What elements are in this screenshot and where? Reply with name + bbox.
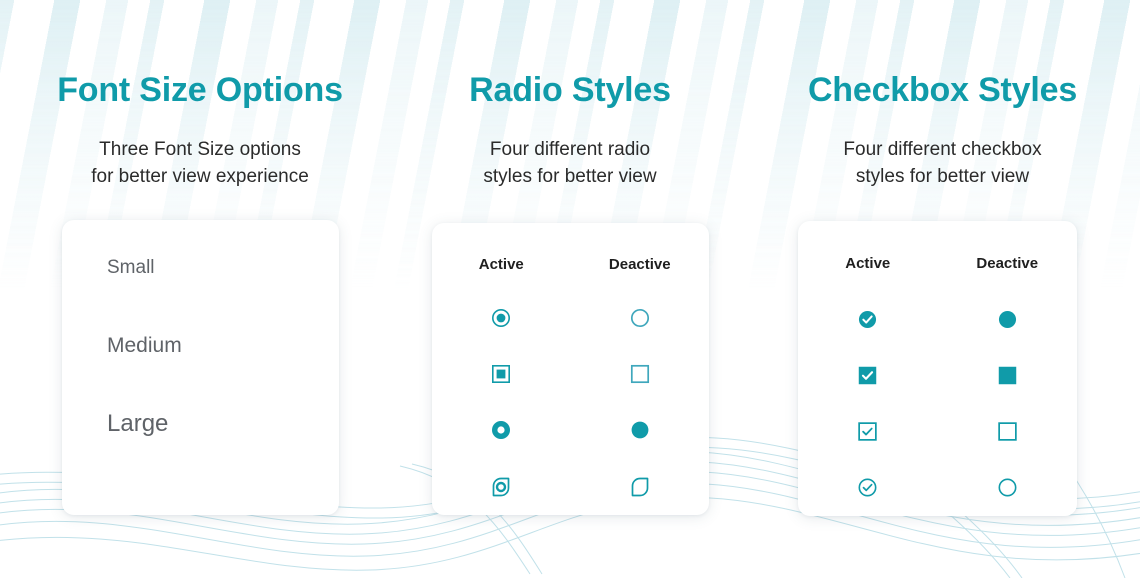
subtitle-checkbox: Four different checkbox styles for bette… <box>745 136 1140 190</box>
radio-square-outline-icon[interactable] <box>630 364 650 384</box>
radio-circle-outline-icon[interactable] <box>630 308 650 328</box>
radio-deactive-cell <box>571 475 710 497</box>
checkbox-deactive-cell <box>938 478 1078 497</box>
radio-styles-card: Active Deactive <box>432 223 709 515</box>
circle-outline-icon[interactable] <box>998 478 1017 497</box>
checkbox-styles-card: Active Deactive <box>798 221 1077 516</box>
radio-row <box>432 402 709 458</box>
radio-header-active: Active <box>432 256 571 273</box>
radio-active-cell <box>432 364 571 384</box>
checkbox-row <box>798 459 1077 515</box>
radio-deactive-cell <box>571 308 710 328</box>
radio-deactive-cell <box>571 420 710 440</box>
subtitle-radio: Four different radio styles for better v… <box>380 136 760 190</box>
checkbox-row <box>798 291 1077 347</box>
radio-circle-solid-icon[interactable] <box>630 420 650 440</box>
radio-column-headers: Active Deactive <box>432 256 709 273</box>
checkbox-deactive-cell <box>938 366 1078 385</box>
square-solid-icon[interactable] <box>998 366 1017 385</box>
page-title-radio: Radio Styles <box>380 71 760 110</box>
radio-donut-icon[interactable] <box>491 420 511 440</box>
radio-square-filled-icon[interactable] <box>491 364 511 384</box>
radio-header-deactive: Deactive <box>571 256 710 273</box>
checkbox-row <box>798 403 1077 459</box>
checkbox-active-cell <box>798 478 938 497</box>
radio-row <box>432 458 709 514</box>
subtitle-font-size: Three Font Size options for better view … <box>0 136 400 190</box>
radio-active-cell <box>432 475 571 497</box>
checkbox-active-cell <box>798 422 938 441</box>
checkbox-column-headers: Active Deactive <box>798 255 1077 272</box>
font-size-option-large[interactable]: Large <box>107 412 182 436</box>
check-square-solid-icon[interactable] <box>858 366 877 385</box>
page-title-font-size: Font Size Options <box>0 71 400 110</box>
page-title-checkbox: Checkbox Styles <box>745 71 1140 110</box>
checkbox-header-deactive: Deactive <box>938 255 1078 272</box>
font-size-option-medium[interactable]: Medium <box>107 335 182 356</box>
radio-leaf-filled-icon[interactable] <box>490 475 512 497</box>
radio-rows <box>432 290 709 514</box>
font-size-option-small[interactable]: Small <box>107 258 182 277</box>
font-size-list: Small Medium Large <box>107 258 182 436</box>
radio-active-cell <box>432 420 571 440</box>
radio-active-cell <box>432 308 571 328</box>
checkbox-active-cell <box>798 310 938 329</box>
checkbox-deactive-cell <box>938 422 1078 441</box>
checkbox-deactive-cell <box>938 310 1078 329</box>
check-circle-solid-icon[interactable] <box>858 310 877 329</box>
content-stage: Font Size Options Three Font Size option… <box>0 0 1140 578</box>
font-size-card: Small Medium Large <box>62 220 339 515</box>
checkbox-active-cell <box>798 366 938 385</box>
radio-deactive-cell <box>571 364 710 384</box>
radio-row <box>432 290 709 346</box>
square-outline-icon[interactable] <box>998 422 1017 441</box>
check-square-outline-icon[interactable] <box>858 422 877 441</box>
radio-leaf-outline-icon[interactable] <box>629 475 651 497</box>
radio-ring-filled-icon[interactable] <box>491 308 511 328</box>
check-circle-outline-icon[interactable] <box>858 478 877 497</box>
checkbox-header-active: Active <box>798 255 938 272</box>
checkbox-rows <box>798 291 1077 515</box>
radio-row <box>432 346 709 402</box>
checkbox-row <box>798 347 1077 403</box>
circle-solid-icon[interactable] <box>998 310 1017 329</box>
